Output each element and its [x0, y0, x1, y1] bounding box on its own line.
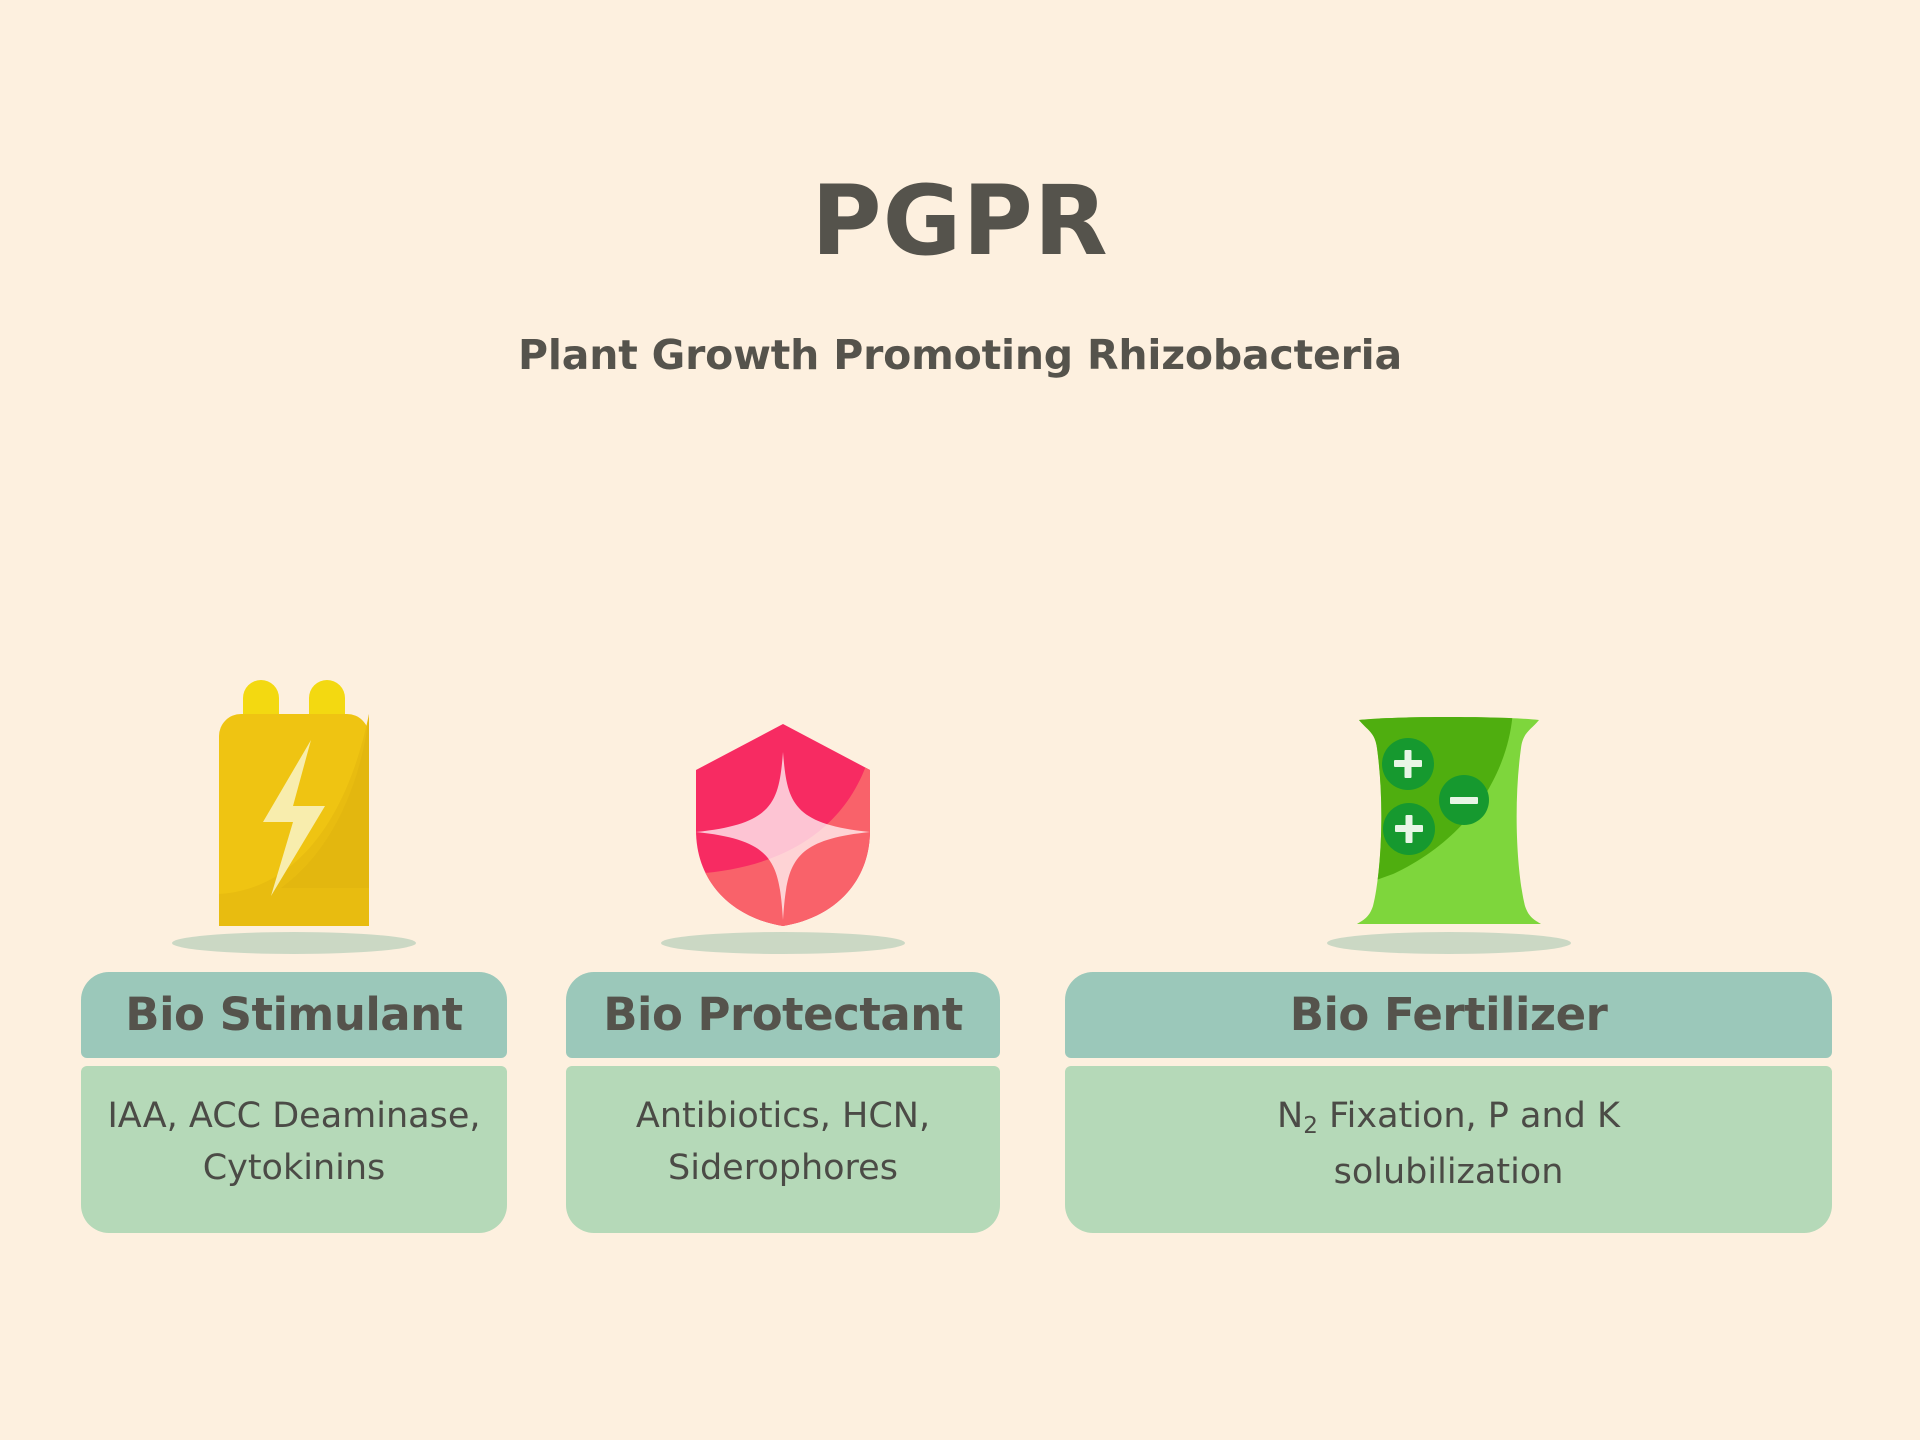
card-header-bio-protectant: Bio Protectant — [566, 972, 1000, 1058]
card-title: Bio Protectant — [603, 990, 963, 1040]
icon-stage-bio-fertilizer — [1065, 640, 1832, 960]
card-bio-stimulant[interactable]: Bio Stimulant IAA, ACC Deaminase, Cytoki… — [81, 972, 507, 1233]
card-description-line-1: N2 Fixation, P and K — [1277, 1096, 1620, 1136]
icon-column-bio-fertilizer — [1065, 640, 1832, 960]
card-header-bio-fertilizer: Bio Fertilizer — [1065, 972, 1832, 1058]
bag-badge-minus — [1439, 775, 1489, 825]
card-description: IAA, ACC Deaminase, Cytokinins — [107, 1090, 480, 1194]
card-body-bio-protectant: Antibiotics, HCN, Siderophores — [566, 1066, 1000, 1233]
card-bio-fertilizer[interactable]: Bio Fertilizer N2 Fixation, P and K solu… — [1065, 972, 1832, 1233]
icon-column-bio-stimulant — [81, 640, 507, 960]
icon-column-bio-protectant — [566, 640, 1000, 960]
battery-lightning-icon — [219, 680, 369, 926]
icon-ground-shadow — [661, 932, 905, 954]
card-body-bio-stimulant: IAA, ACC Deaminase, Cytokinins — [81, 1066, 507, 1233]
card-title: Bio Fertilizer — [1290, 990, 1608, 1040]
icon-ground-shadow — [1327, 932, 1571, 954]
card-description-line-1: Antibiotics, HCN, — [636, 1096, 930, 1136]
card-title: Bio Stimulant — [125, 990, 462, 1040]
card-divider — [566, 1058, 1000, 1066]
bag-badge-plus-top — [1382, 738, 1434, 790]
card-body-bio-fertilizer: N2 Fixation, P and K solubilization — [1065, 1066, 1832, 1233]
card-description: Antibiotics, HCN, Siderophores — [636, 1090, 930, 1194]
card-divider — [1065, 1058, 1832, 1066]
icon-stage-bio-protectant — [566, 640, 1000, 960]
bag-badge-plus-bottom — [1383, 803, 1435, 855]
page-title: PGPR — [0, 173, 1920, 269]
icon-ground-shadow — [172, 932, 416, 954]
card-divider — [81, 1058, 507, 1066]
card-description: N2 Fixation, P and K solubilization — [1277, 1090, 1620, 1198]
shield-sparkle-icon — [696, 724, 870, 926]
card-description-line-2: Siderophores — [668, 1148, 898, 1188]
card-description-line-2: Cytokinins — [203, 1148, 386, 1188]
page-subtitle: Plant Growth Promoting Rhizobacteria — [0, 332, 1920, 378]
card-description-line-1: IAA, ACC Deaminase, — [107, 1096, 480, 1136]
fertilizer-bag-icon — [1353, 714, 1545, 926]
card-header-bio-stimulant: Bio Stimulant — [81, 972, 507, 1058]
card-description-line-2: solubilization — [1334, 1152, 1564, 1192]
icon-stage-bio-stimulant — [81, 640, 507, 960]
card-bio-protectant[interactable]: Bio Protectant Antibiotics, HCN, Siderop… — [566, 972, 1000, 1233]
